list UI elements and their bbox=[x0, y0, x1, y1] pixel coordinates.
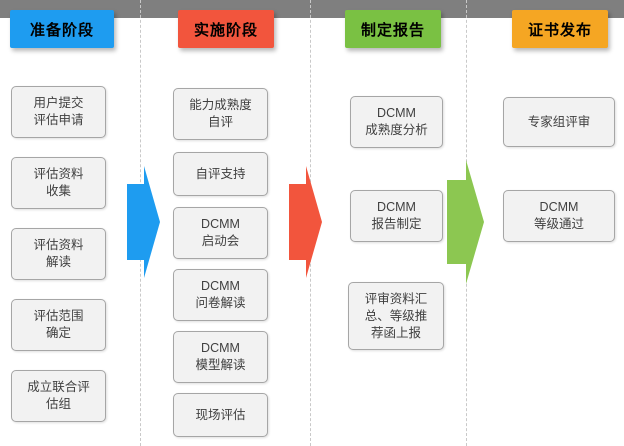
phase-header-preparation[interactable]: 准备阶段 bbox=[10, 10, 114, 48]
step-box[interactable]: 现场评估 bbox=[173, 393, 268, 437]
phase-arrow-preparation-to-implementation bbox=[126, 166, 162, 278]
step-box[interactable]: DCMM 模型解读 bbox=[173, 331, 268, 383]
step-box[interactable]: DCMM 等级通过 bbox=[503, 190, 615, 242]
flowchart-canvas: 准备阶段 实施阶段 制定报告 证书发布 用户提交 评估申请 评估资料 收集 评估… bbox=[0, 0, 624, 446]
step-box[interactable]: 评估资料 收集 bbox=[11, 157, 106, 209]
phase-arrow-implementation-to-report bbox=[288, 166, 324, 278]
phase-arrow-report-to-certificate bbox=[446, 160, 486, 284]
step-box[interactable]: DCMM 成熟度分析 bbox=[350, 96, 443, 148]
phase-header-certificate[interactable]: 证书发布 bbox=[512, 10, 608, 48]
step-box[interactable]: DCMM 报告制定 bbox=[350, 190, 443, 242]
step-box[interactable]: 用户提交 评估申请 bbox=[11, 86, 106, 138]
step-box[interactable]: 成立联合评 估组 bbox=[11, 370, 106, 422]
phase-header-label: 制定报告 bbox=[361, 19, 425, 40]
phase-header-label: 准备阶段 bbox=[30, 19, 94, 40]
phase-header-label: 实施阶段 bbox=[194, 19, 258, 40]
step-box[interactable]: 评审资料汇 总、等级推 荐函上报 bbox=[348, 282, 444, 350]
phase-header-implementation[interactable]: 实施阶段 bbox=[178, 10, 274, 48]
step-box[interactable]: 评估资料 解读 bbox=[11, 228, 106, 280]
phase-header-report[interactable]: 制定报告 bbox=[345, 10, 441, 48]
step-box[interactable]: 能力成熟度 自评 bbox=[173, 88, 268, 140]
step-box[interactable]: 自评支持 bbox=[173, 152, 268, 196]
step-box[interactable]: 专家组评审 bbox=[503, 97, 615, 147]
step-box[interactable]: DCMM 问卷解读 bbox=[173, 269, 268, 321]
step-box[interactable]: 评估范围 确定 bbox=[11, 299, 106, 351]
phase-header-label: 证书发布 bbox=[528, 19, 592, 40]
step-box[interactable]: DCMM 启动会 bbox=[173, 207, 268, 259]
